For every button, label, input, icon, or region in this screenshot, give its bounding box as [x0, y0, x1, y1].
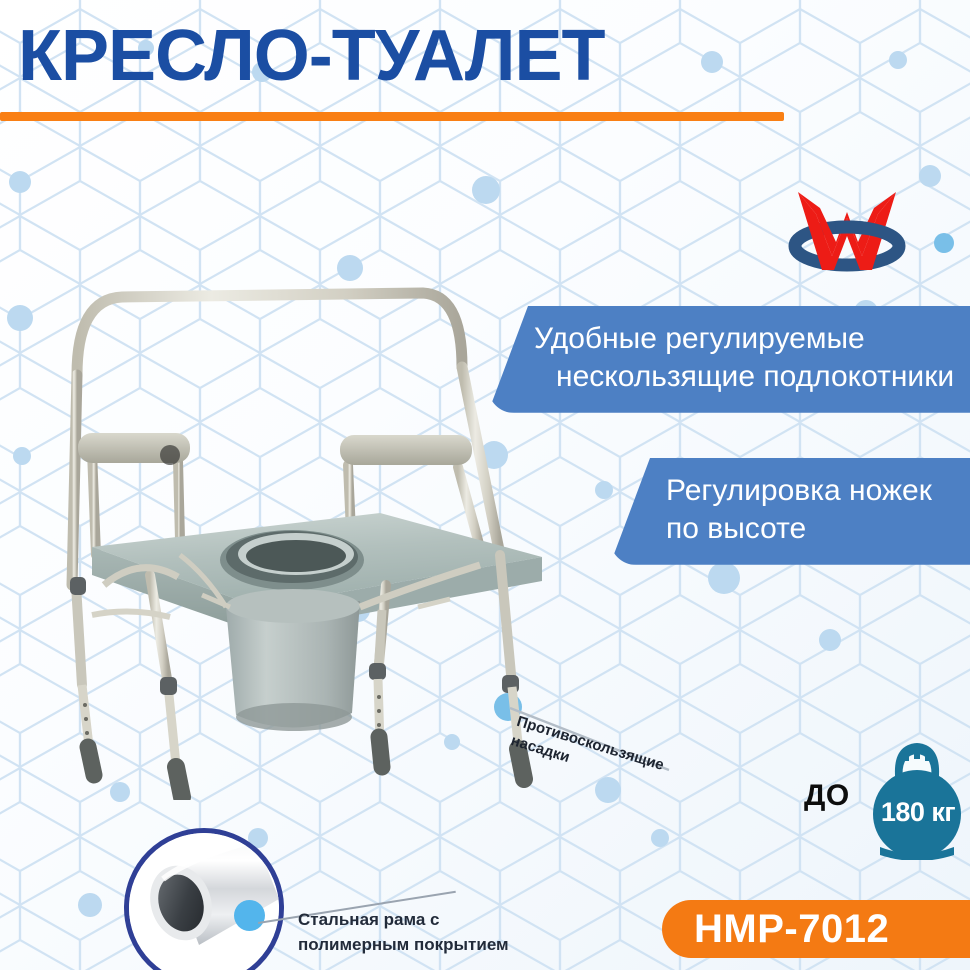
steel-frame-line-1: Стальная рама с: [298, 908, 509, 933]
weight-prefix: ДО: [804, 779, 850, 813]
title-underline-rule: [0, 112, 784, 121]
steel-frame-line-2: полимерным покрытием: [298, 933, 509, 958]
feature-banner-leg-height: Регулировка ножек по высоте: [610, 458, 970, 565]
banner-2-line-2: по высоте: [666, 510, 970, 548]
commode-chair-photo: [30, 255, 560, 800]
model-code-badge: HMP-7012: [662, 900, 970, 958]
m-ring-logo: [782, 178, 912, 286]
page-title: КРЕСЛО-ТУАЛЕТ: [18, 20, 604, 92]
weight-capacity-badge: ДО 180 кг: [800, 735, 970, 860]
feature-banner-armrests: Удобные регулируемые нескользящие подлок…: [488, 306, 970, 413]
banner-1-line-1: Удобные регулируемые: [534, 320, 970, 358]
model-code-text: HMP-7012: [694, 907, 889, 952]
weight-value: 180 кг: [864, 797, 970, 828]
banner-2-line-1: Регулировка ножек: [666, 472, 970, 510]
steel-frame-callout-dot: [234, 900, 265, 931]
promo-canvas: КРЕСЛО-ТУАЛЕТ: [0, 0, 970, 970]
banner-1-line-2: нескользящие подлокотники: [556, 358, 970, 396]
callout-steel-frame: Стальная рама с полимерным покрытием: [298, 908, 509, 957]
